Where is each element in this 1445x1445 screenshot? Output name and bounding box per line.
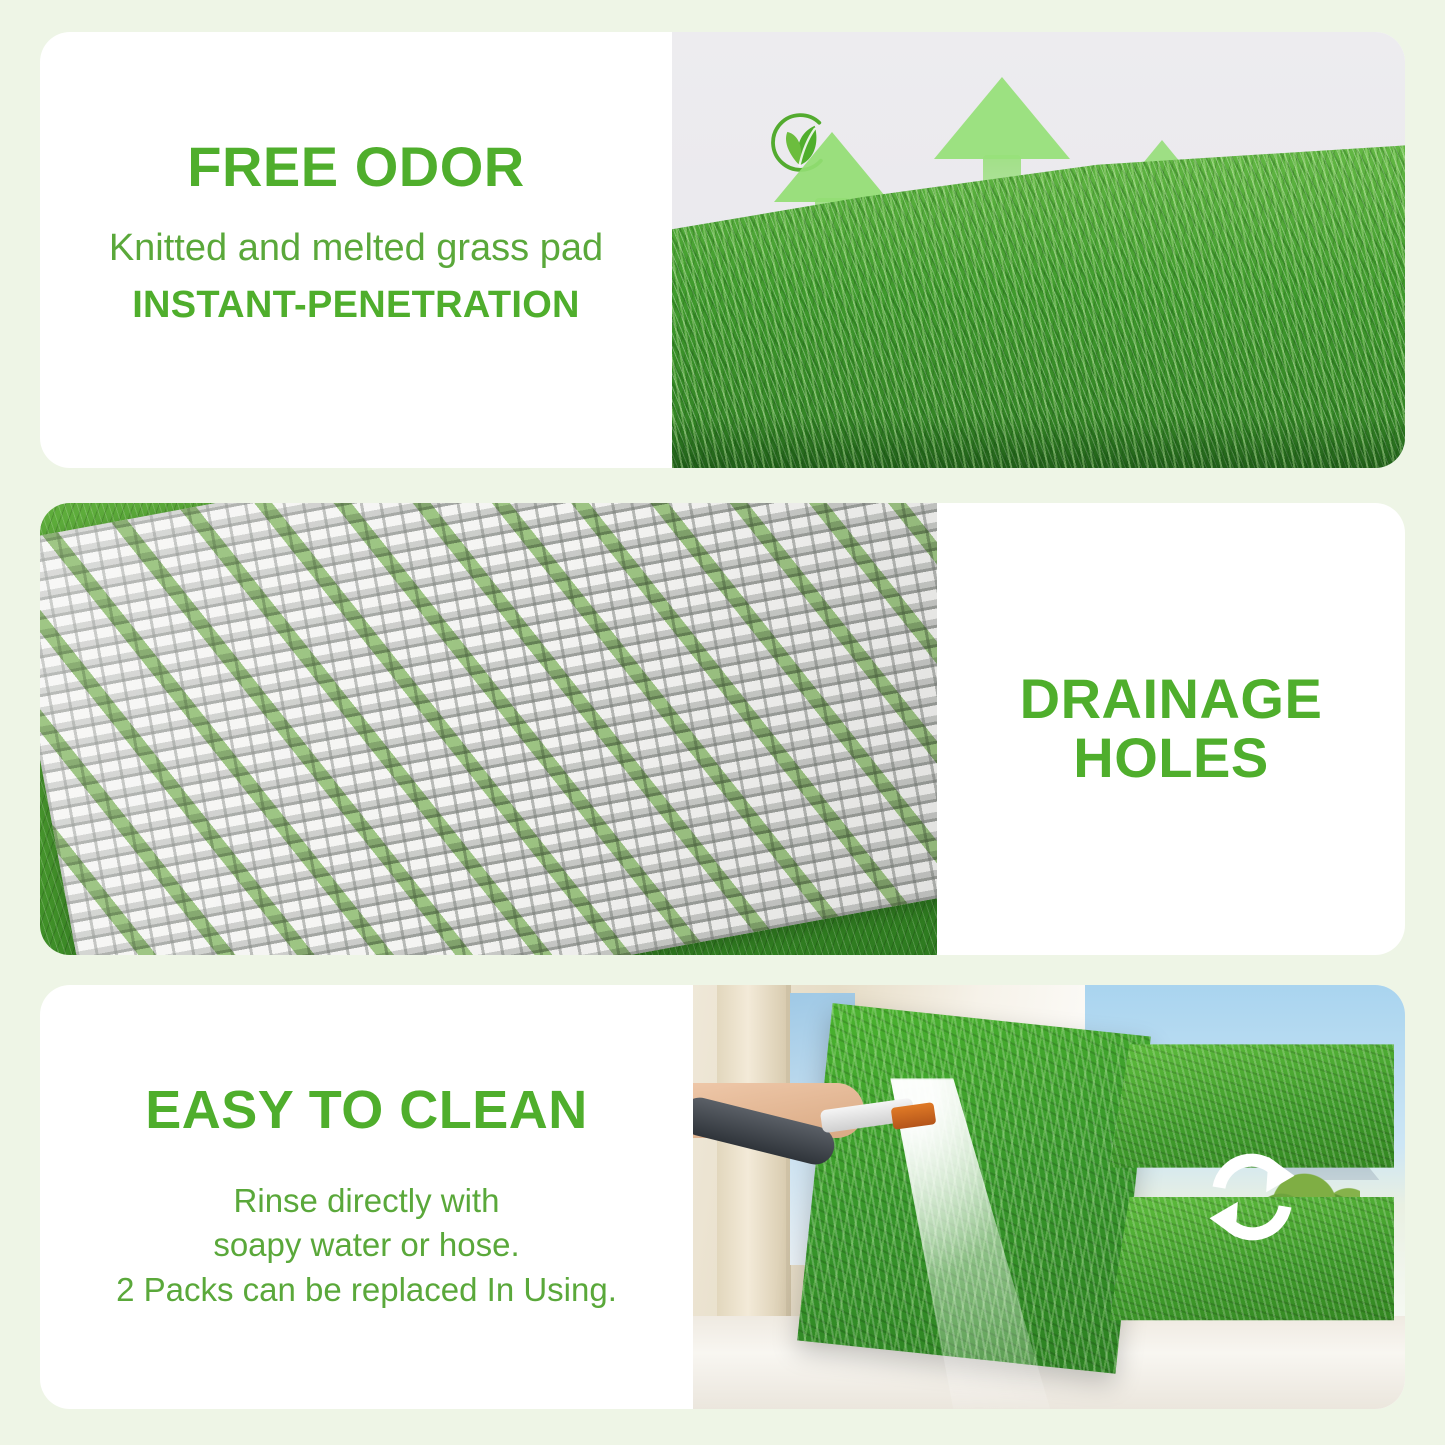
drainage-mesh-image [40, 503, 937, 955]
drainage-text-block: DRAINAGE HOLES [937, 503, 1405, 955]
arrow-head [774, 132, 890, 202]
panel-drainage-holes: DRAINAGE HOLES [40, 503, 1405, 955]
mesh-shading [40, 503, 937, 955]
turf-shadow [672, 416, 1405, 468]
free-odor-subline-2: INSTANT-PENETRATION [132, 280, 580, 331]
stacked-replacement-pads [1110, 1044, 1395, 1349]
easy-clean-text-block: EASY TO CLEAN Rinse directly with soapy … [40, 985, 693, 1409]
panel-free-odor: FREE ODOR Knitted and melted grass pad I… [40, 32, 1405, 468]
free-odor-subline-1: Knitted and melted grass pad [109, 223, 603, 274]
drainage-headline-line-2: HOLES [1073, 729, 1268, 788]
arrow-head [934, 77, 1070, 159]
mesh-backing-sheet [40, 503, 937, 955]
drainage-headline-line-1: DRAINAGE [1020, 670, 1323, 729]
free-odor-image [672, 32, 1405, 468]
infographic-page: FREE ODOR Knitted and melted grass pad I… [0, 0, 1445, 1445]
easy-clean-subline-1: Rinse directly with [234, 1179, 500, 1224]
free-odor-text-block: FREE ODOR Knitted and melted grass pad I… [40, 32, 672, 468]
easy-clean-image [693, 985, 1405, 1409]
panel-easy-to-clean: EASY TO CLEAN Rinse directly with soapy … [40, 985, 1405, 1409]
easy-clean-headline: EASY TO CLEAN [145, 1082, 588, 1139]
free-odor-headline: FREE ODOR [187, 138, 524, 197]
easy-clean-subline-2: soapy water or hose. [213, 1223, 519, 1268]
refresh-swap-icon [1193, 1138, 1311, 1256]
easy-clean-subline-3: 2 Packs can be replaced In Using. [116, 1268, 617, 1313]
